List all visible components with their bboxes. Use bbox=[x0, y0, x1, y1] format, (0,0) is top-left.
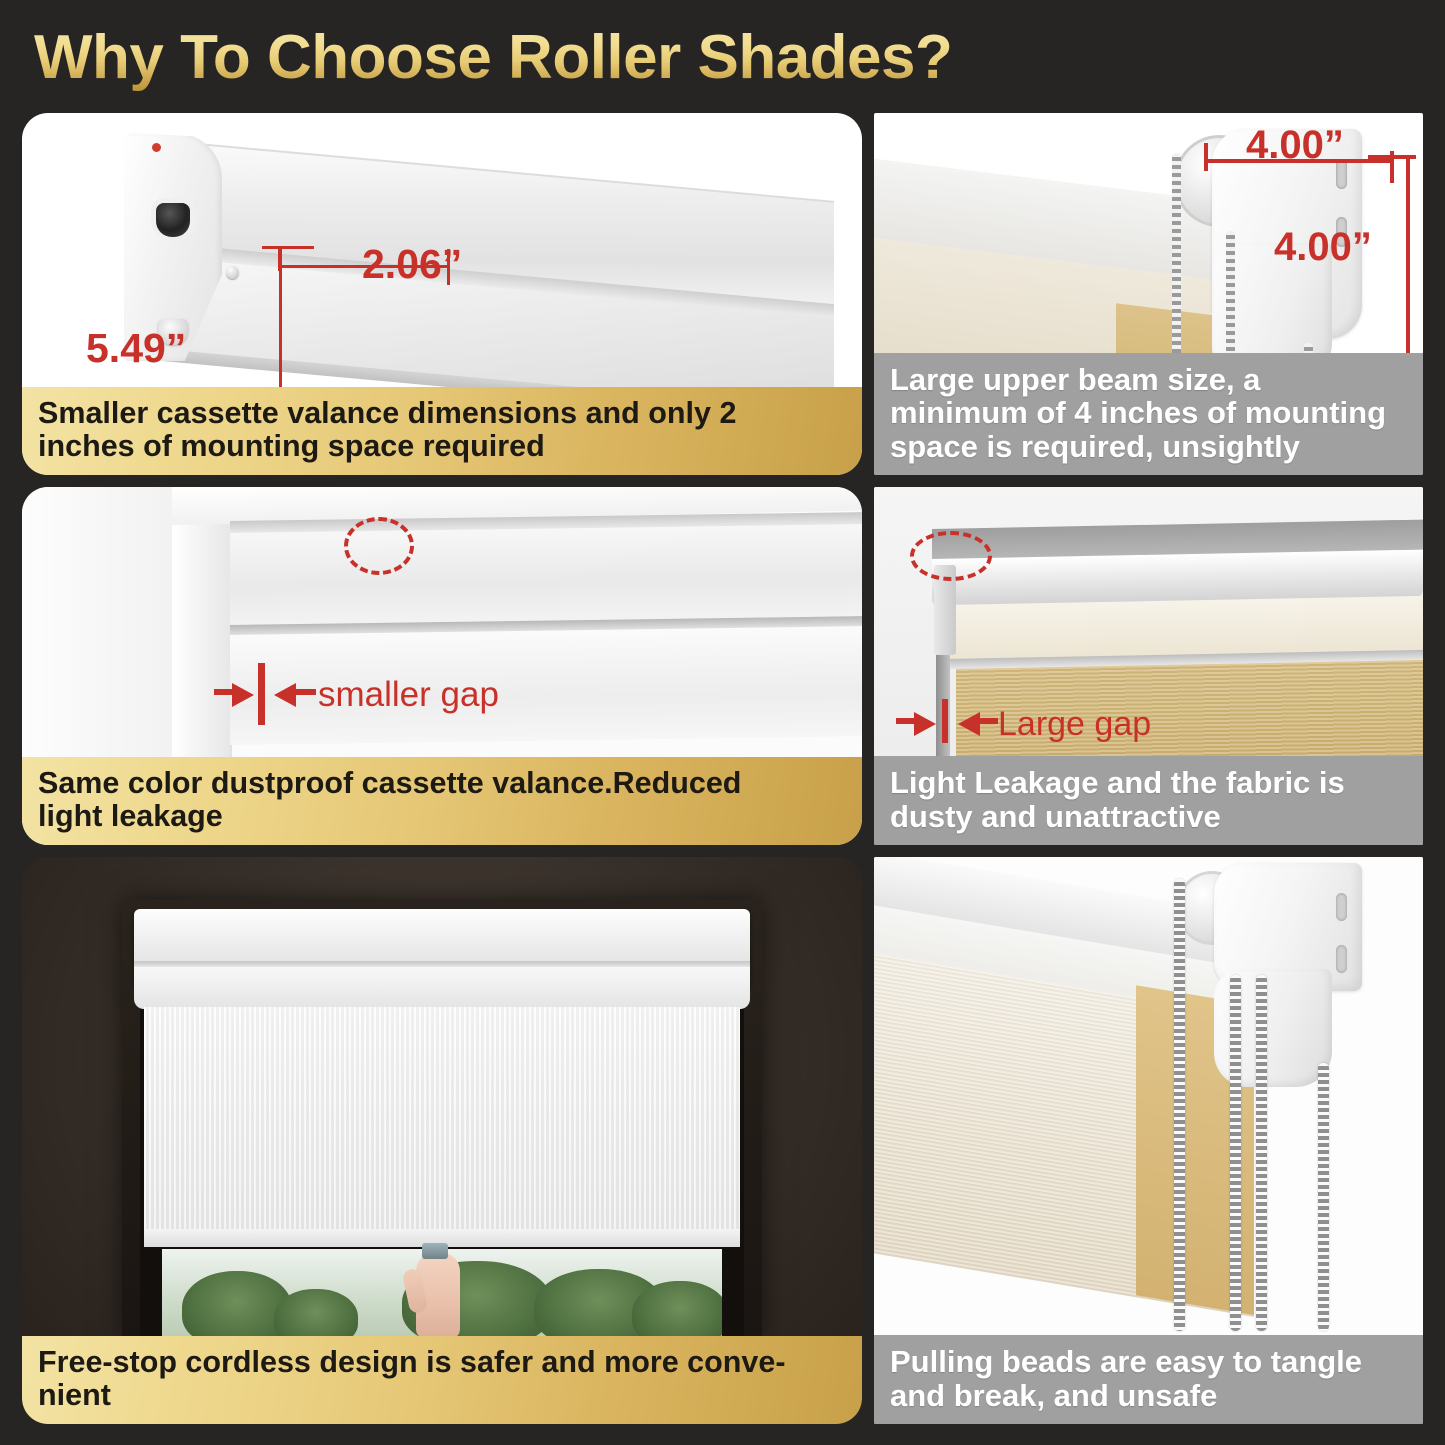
panel-caption: Same color dustproof cassette valance.Re… bbox=[22, 757, 862, 845]
measure-origin-dot bbox=[152, 143, 161, 152]
caption-line: Pulling beads are easy to tangle bbox=[890, 1345, 1407, 1378]
height-dimension-label: 5.49” bbox=[86, 325, 186, 372]
gap-callout-label: Large gap bbox=[998, 705, 1151, 744]
caption-line: Large upper beam size, a bbox=[890, 363, 1407, 396]
valance-assembly bbox=[114, 131, 834, 381]
arrow-left-icon bbox=[274, 683, 296, 707]
end-cap-slot bbox=[156, 203, 190, 237]
caption-line: Same color dustproof cassette valance.Re… bbox=[38, 767, 846, 800]
bead-chain bbox=[1174, 879, 1185, 1331]
panel-caption: Large upper beam size, a minimum of 4 in… bbox=[874, 353, 1423, 475]
width-dimension-label: 2.06” bbox=[362, 241, 462, 288]
height-dimension-label: 4.00” bbox=[1274, 225, 1372, 270]
panel-pulling-beads: Pulling beads are easy to tangle and bre… bbox=[874, 857, 1423, 1424]
width-dimension-tick-left bbox=[1204, 143, 1208, 171]
caption-line: and break, and unsafe bbox=[890, 1379, 1407, 1412]
panel-grid: 2.06” 5.49” Smaller cassette valance dim… bbox=[0, 0, 1445, 1445]
caption-line: light leakage bbox=[38, 800, 846, 833]
bead-chain bbox=[1230, 975, 1241, 1331]
panel-dustproof-valance: smaller gap Same color dustproof cassett… bbox=[22, 487, 862, 845]
height-dimension-line bbox=[1406, 155, 1410, 377]
bead-chain bbox=[1256, 975, 1267, 1331]
roller-shade-fabric bbox=[144, 1007, 740, 1245]
arrow-stem bbox=[978, 718, 998, 724]
panel-caption: Free-stop cordless design is safer and m… bbox=[22, 1336, 862, 1424]
panel-cordless-design: Free-stop cordless design is safer and m… bbox=[22, 857, 862, 1424]
arrow-right-icon bbox=[232, 683, 254, 707]
bracket-slot-upper bbox=[1336, 893, 1347, 921]
bead-chain bbox=[1172, 153, 1181, 383]
height-dimension-tick-top bbox=[262, 246, 314, 249]
arrow-left-icon bbox=[958, 712, 980, 736]
panel-caption: Light Leakage and the fabric is dusty an… bbox=[874, 756, 1423, 845]
tree bbox=[274, 1289, 358, 1341]
cassette-lower-face bbox=[134, 967, 750, 1009]
arrow-stem bbox=[214, 689, 236, 695]
caption-line: nient bbox=[38, 1379, 846, 1412]
arrow-stem bbox=[294, 689, 316, 695]
gap-marker-bar bbox=[942, 699, 948, 743]
tree bbox=[632, 1281, 722, 1341]
pull-tab bbox=[422, 1243, 448, 1259]
panel-large-beam: 4.00” 4.00” Large upper beam size, a min… bbox=[874, 113, 1423, 475]
bracket-slot-lower bbox=[1336, 945, 1347, 973]
caption-line: space is required, unsightly bbox=[890, 430, 1407, 463]
gap-marker-bar bbox=[258, 663, 265, 725]
arrow-stem bbox=[896, 718, 916, 724]
caption-line: Smaller cassette valance dimensions and … bbox=[38, 397, 846, 430]
caption-line: inches of mounting space required bbox=[38, 430, 846, 463]
end-cap-screw bbox=[226, 266, 239, 279]
caption-line: Free-stop cordless design is safer and m… bbox=[38, 1346, 846, 1379]
caption-line: minimum of 4 inches of mounting bbox=[890, 396, 1407, 429]
width-dimension-label: 4.00” bbox=[1246, 123, 1344, 168]
shade-band-upper bbox=[230, 524, 862, 631]
panel-smaller-cassette: 2.06” 5.49” Smaller cassette valance dim… bbox=[22, 113, 862, 475]
gap-callout-label: smaller gap bbox=[318, 675, 499, 715]
panel-caption: Pulling beads are easy to tangle and bre… bbox=[874, 1335, 1423, 1424]
height-dimension-tick-top bbox=[1368, 155, 1416, 159]
caption-line: Light Leakage and the fabric is bbox=[890, 766, 1407, 799]
bead-chain bbox=[1318, 1063, 1329, 1331]
caption-line: dusty and unattractive bbox=[890, 800, 1407, 833]
panel-caption: Smaller cassette valance dimensions and … bbox=[22, 387, 862, 475]
dashed-highlight-circle-icon bbox=[910, 531, 992, 581]
panel-light-leakage: Large gap Light Leakage and the fabric i… bbox=[874, 487, 1423, 845]
infographic-root: Why To Choose Roller Shades? bbox=[0, 0, 1445, 1445]
dashed-highlight-circle-icon bbox=[344, 517, 414, 575]
arrow-right-icon bbox=[914, 712, 936, 736]
